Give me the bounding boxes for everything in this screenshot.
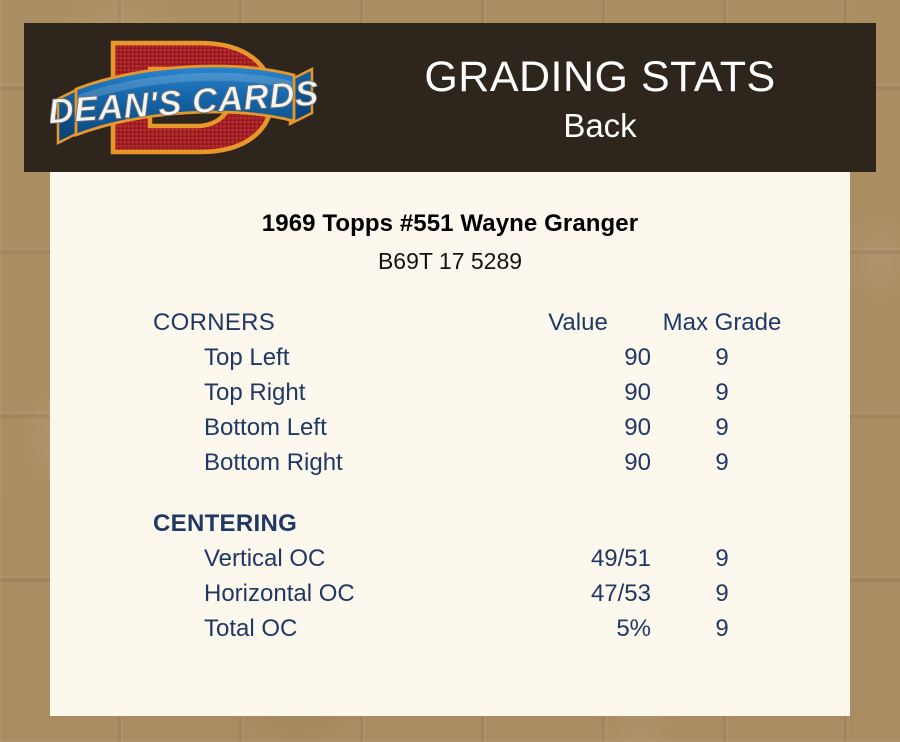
logo-svg: DEAN'S CARDS — [50, 25, 318, 170]
grading-stats-section: CORNERS Value Max Grade Top Left 90 9 To… — [50, 305, 850, 646]
table-row: Bottom Left 90 9 — [153, 410, 793, 445]
table-row: Total OC 5% 9 — [153, 611, 793, 646]
column-header-value: Value — [505, 305, 651, 340]
header-bar: DEAN'S CARDS GRADING STATS Back — [24, 23, 876, 172]
card-title: 1969 Topps #551 Wayne Granger — [50, 210, 850, 238]
row-max-grade: 9 — [651, 576, 793, 611]
row-label: Top Right — [153, 375, 505, 410]
logo-text: DEAN'S CARDS — [50, 74, 318, 132]
table-row: Horizontal OC 47/53 9 — [153, 576, 793, 611]
row-value: 90 — [505, 445, 651, 480]
row-label: Total OC — [153, 611, 505, 646]
table-header: CORNERS Value Max Grade — [153, 305, 793, 340]
card-subtitle: B69T 17 5289 — [50, 248, 850, 275]
row-value: 49/51 — [505, 541, 651, 576]
section-header-row-centering: CENTERING — [153, 492, 793, 541]
table-body: Top Left 90 9 Top Right 90 9 Bottom Left… — [153, 340, 793, 646]
table-row: Top Right 90 9 — [153, 375, 793, 410]
row-value: 5% — [505, 611, 651, 646]
row-label: Bottom Left — [153, 410, 505, 445]
row-max-grade: 9 — [651, 445, 793, 480]
row-max-grade: 9 — [651, 375, 793, 410]
table-row: Top Left 90 9 — [153, 340, 793, 375]
column-header-max-grade: Max Grade — [651, 305, 793, 340]
row-value: 90 — [505, 410, 651, 445]
row-max-grade: 9 — [651, 611, 793, 646]
row-max-grade: 9 — [651, 340, 793, 375]
row-label: Vertical OC — [153, 541, 505, 576]
page-title: GRADING STATS — [424, 55, 775, 100]
row-value: 90 — [505, 340, 651, 375]
grading-stats-table: CORNERS Value Max Grade Top Left 90 9 To… — [153, 305, 793, 646]
page-subtitle: Back — [563, 106, 636, 146]
table-row: Bottom Right 90 9 — [153, 445, 793, 480]
row-label: Horizontal OC — [153, 576, 505, 611]
table-row: Vertical OC 49/51 9 — [153, 541, 793, 576]
section-header-corners: CORNERS — [153, 305, 505, 340]
header-text-block: GRADING STATS Back — [324, 23, 876, 172]
row-max-grade: 9 — [651, 541, 793, 576]
content-panel: 1969 Topps #551 Wayne Granger B69T 17 52… — [50, 172, 850, 716]
section-spacer — [153, 480, 793, 492]
row-label: Bottom Right — [153, 445, 505, 480]
deans-cards-logo[interactable]: DEAN'S CARDS — [50, 25, 318, 170]
row-value: 47/53 — [505, 576, 651, 611]
row-label: Top Left — [153, 340, 505, 375]
table-header-row: CORNERS Value Max Grade — [153, 305, 793, 340]
row-value: 90 — [505, 375, 651, 410]
row-max-grade: 9 — [651, 410, 793, 445]
section-header-centering: CENTERING — [153, 492, 505, 541]
